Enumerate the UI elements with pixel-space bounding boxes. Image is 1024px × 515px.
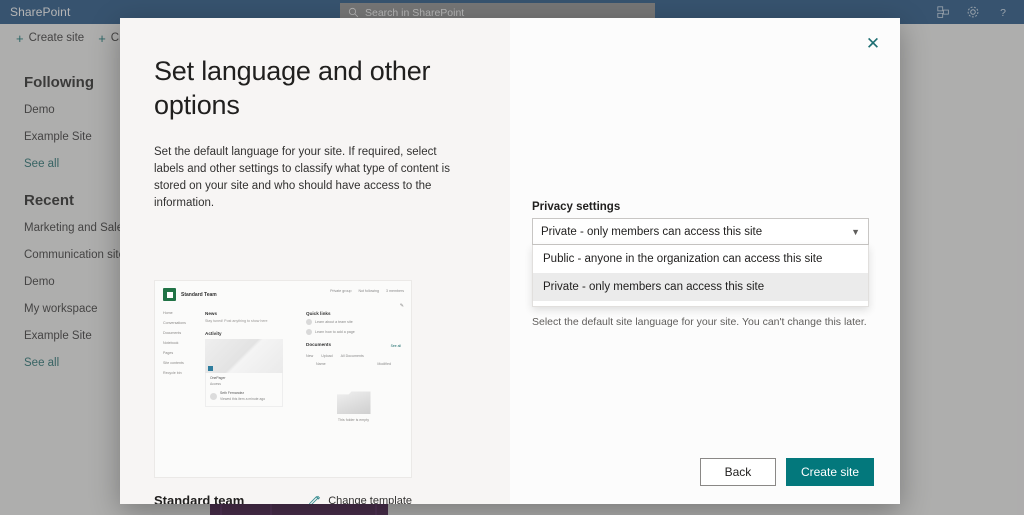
preview-nav-documents: Documents [163, 331, 199, 335]
preview-activity-person-row: Seth Fernandez Viewed this item a minute… [210, 391, 278, 401]
preview-documents-columns: Name Modified [306, 362, 401, 366]
preview-documents-see-all: See all [391, 344, 401, 348]
preview-column-modified: Modified [377, 362, 391, 366]
preview-nav: Home Conversations Documents Notebook Pa… [163, 311, 199, 422]
template-preview-thumbnail[interactable]: Standard Team Private group Not followin… [154, 280, 412, 478]
pencil-icon [308, 494, 321, 504]
preview-nav-recycle-bin: Recycle bin [163, 371, 199, 375]
close-icon[interactable]: ✕ [860, 30, 886, 56]
dialog-left-pane: Set language and other options Set the d… [120, 18, 510, 504]
template-footer: Standard team Change template [154, 493, 412, 504]
preview-action-private: Private group [330, 289, 351, 293]
preview-activity-heading: Activity [205, 331, 300, 336]
chevron-down-icon: ▼ [851, 227, 860, 237]
dialog-description: Set the default language for your site. … [154, 144, 464, 212]
preview-nav-pages: Pages [163, 351, 199, 355]
privacy-options-listbox[interactable]: Public - anyone in the organization can … [532, 245, 869, 307]
preview-action-following: Not following [358, 289, 379, 293]
link-bullet-icon [306, 329, 312, 335]
preview-body: Home Conversations Documents Notebook Pa… [155, 301, 411, 422]
dialog-title: Set language and other options [154, 54, 480, 122]
preview-site-logo [163, 288, 176, 301]
language-hint: Select the default site language for you… [532, 316, 869, 328]
preview-documents-toolbar: New Upload All Documents [306, 354, 401, 358]
preview-nav-conversations: Conversations [163, 321, 199, 325]
template-name: Standard team [154, 493, 244, 504]
preview-quick-links-heading: Quick links [306, 311, 401, 316]
preview-nav-home: Home [163, 311, 199, 315]
privacy-settings-label: Privacy settings [532, 201, 869, 213]
preview-activity-time: Viewed this item a minute ago [220, 397, 265, 401]
preview-quick-link-1-label: Learn about a team site [315, 320, 353, 324]
preview-action-members: 3 members [386, 289, 404, 293]
preview-main-column: News Stay tuned! Post anything to show h… [205, 311, 300, 422]
preview-quick-link-2-label: Learn how to add a page [315, 330, 355, 334]
privacy-option-private[interactable]: Private - only members can access this s… [533, 273, 868, 301]
privacy-selected-value: Private - only members can access this s… [541, 226, 762, 238]
privacy-option-public[interactable]: Public - anyone in the organization can … [533, 245, 868, 273]
preview-activity-person: Seth Fernandez [220, 391, 265, 395]
dialog-actions: Back Create site [700, 458, 874, 486]
preview-quick-link-1: Learn about a team site [306, 319, 401, 325]
preview-activity-title: OnePager [210, 376, 278, 380]
preview-site-actions: Private group Not following 3 members [330, 289, 404, 293]
template-preview-wrapper: Standard Team Private group Not followin… [154, 280, 480, 504]
privacy-option-clipped[interactable] [533, 301, 868, 307]
avatar [210, 393, 217, 400]
preview-documents-header: Documents See all [306, 342, 401, 350]
screen: SharePoint Search in SharePoint [0, 0, 1024, 515]
create-site-dialog: Set language and other options Set the d… [120, 18, 900, 504]
preview-doc-new: New [306, 354, 313, 358]
dialog-right-pane: ✕ Privacy settings Private - only member… [510, 18, 900, 504]
preview-documents-heading: Documents [306, 342, 331, 347]
create-site-button[interactable]: Create site [786, 458, 874, 486]
privacy-settings-form: Privacy settings Private - only members … [532, 201, 869, 328]
privacy-settings-dropdown[interactable]: Private - only members can access this s… [532, 218, 869, 245]
preview-empty-label: This folder is empty [306, 418, 401, 422]
preview-activity-image [205, 339, 283, 373]
preview-news-empty: Stay tuned! Post anything to show here [205, 319, 300, 323]
preview-doc-upload: Upload [321, 354, 332, 358]
preview-column-name: Name [316, 362, 326, 366]
folder-icon [337, 390, 371, 414]
link-bullet-icon [306, 319, 312, 325]
preview-activity-sub: Access [210, 382, 278, 386]
preview-news-heading: News [205, 311, 300, 316]
preview-nav-site-contents: Site contents [163, 361, 199, 365]
preview-quick-link-2: Learn how to add a page [306, 329, 401, 335]
preview-documents-empty: This folder is empty [306, 390, 401, 422]
back-button[interactable]: Back [700, 458, 776, 486]
preview-site-title: Standard Team [181, 292, 217, 298]
preview-activity-card: OnePager Access Seth Fernandez Viewed th… [205, 373, 283, 407]
change-template-button[interactable]: Change template [308, 494, 412, 504]
preview-doc-all: All Documents [341, 354, 364, 358]
preview-right-column: Quick links Learn about a team site Lear… [306, 311, 401, 422]
preview-nav-notebook: Notebook [163, 341, 199, 345]
change-template-label: Change template [328, 495, 412, 505]
preview-edit-icon: ✎ [400, 303, 404, 309]
